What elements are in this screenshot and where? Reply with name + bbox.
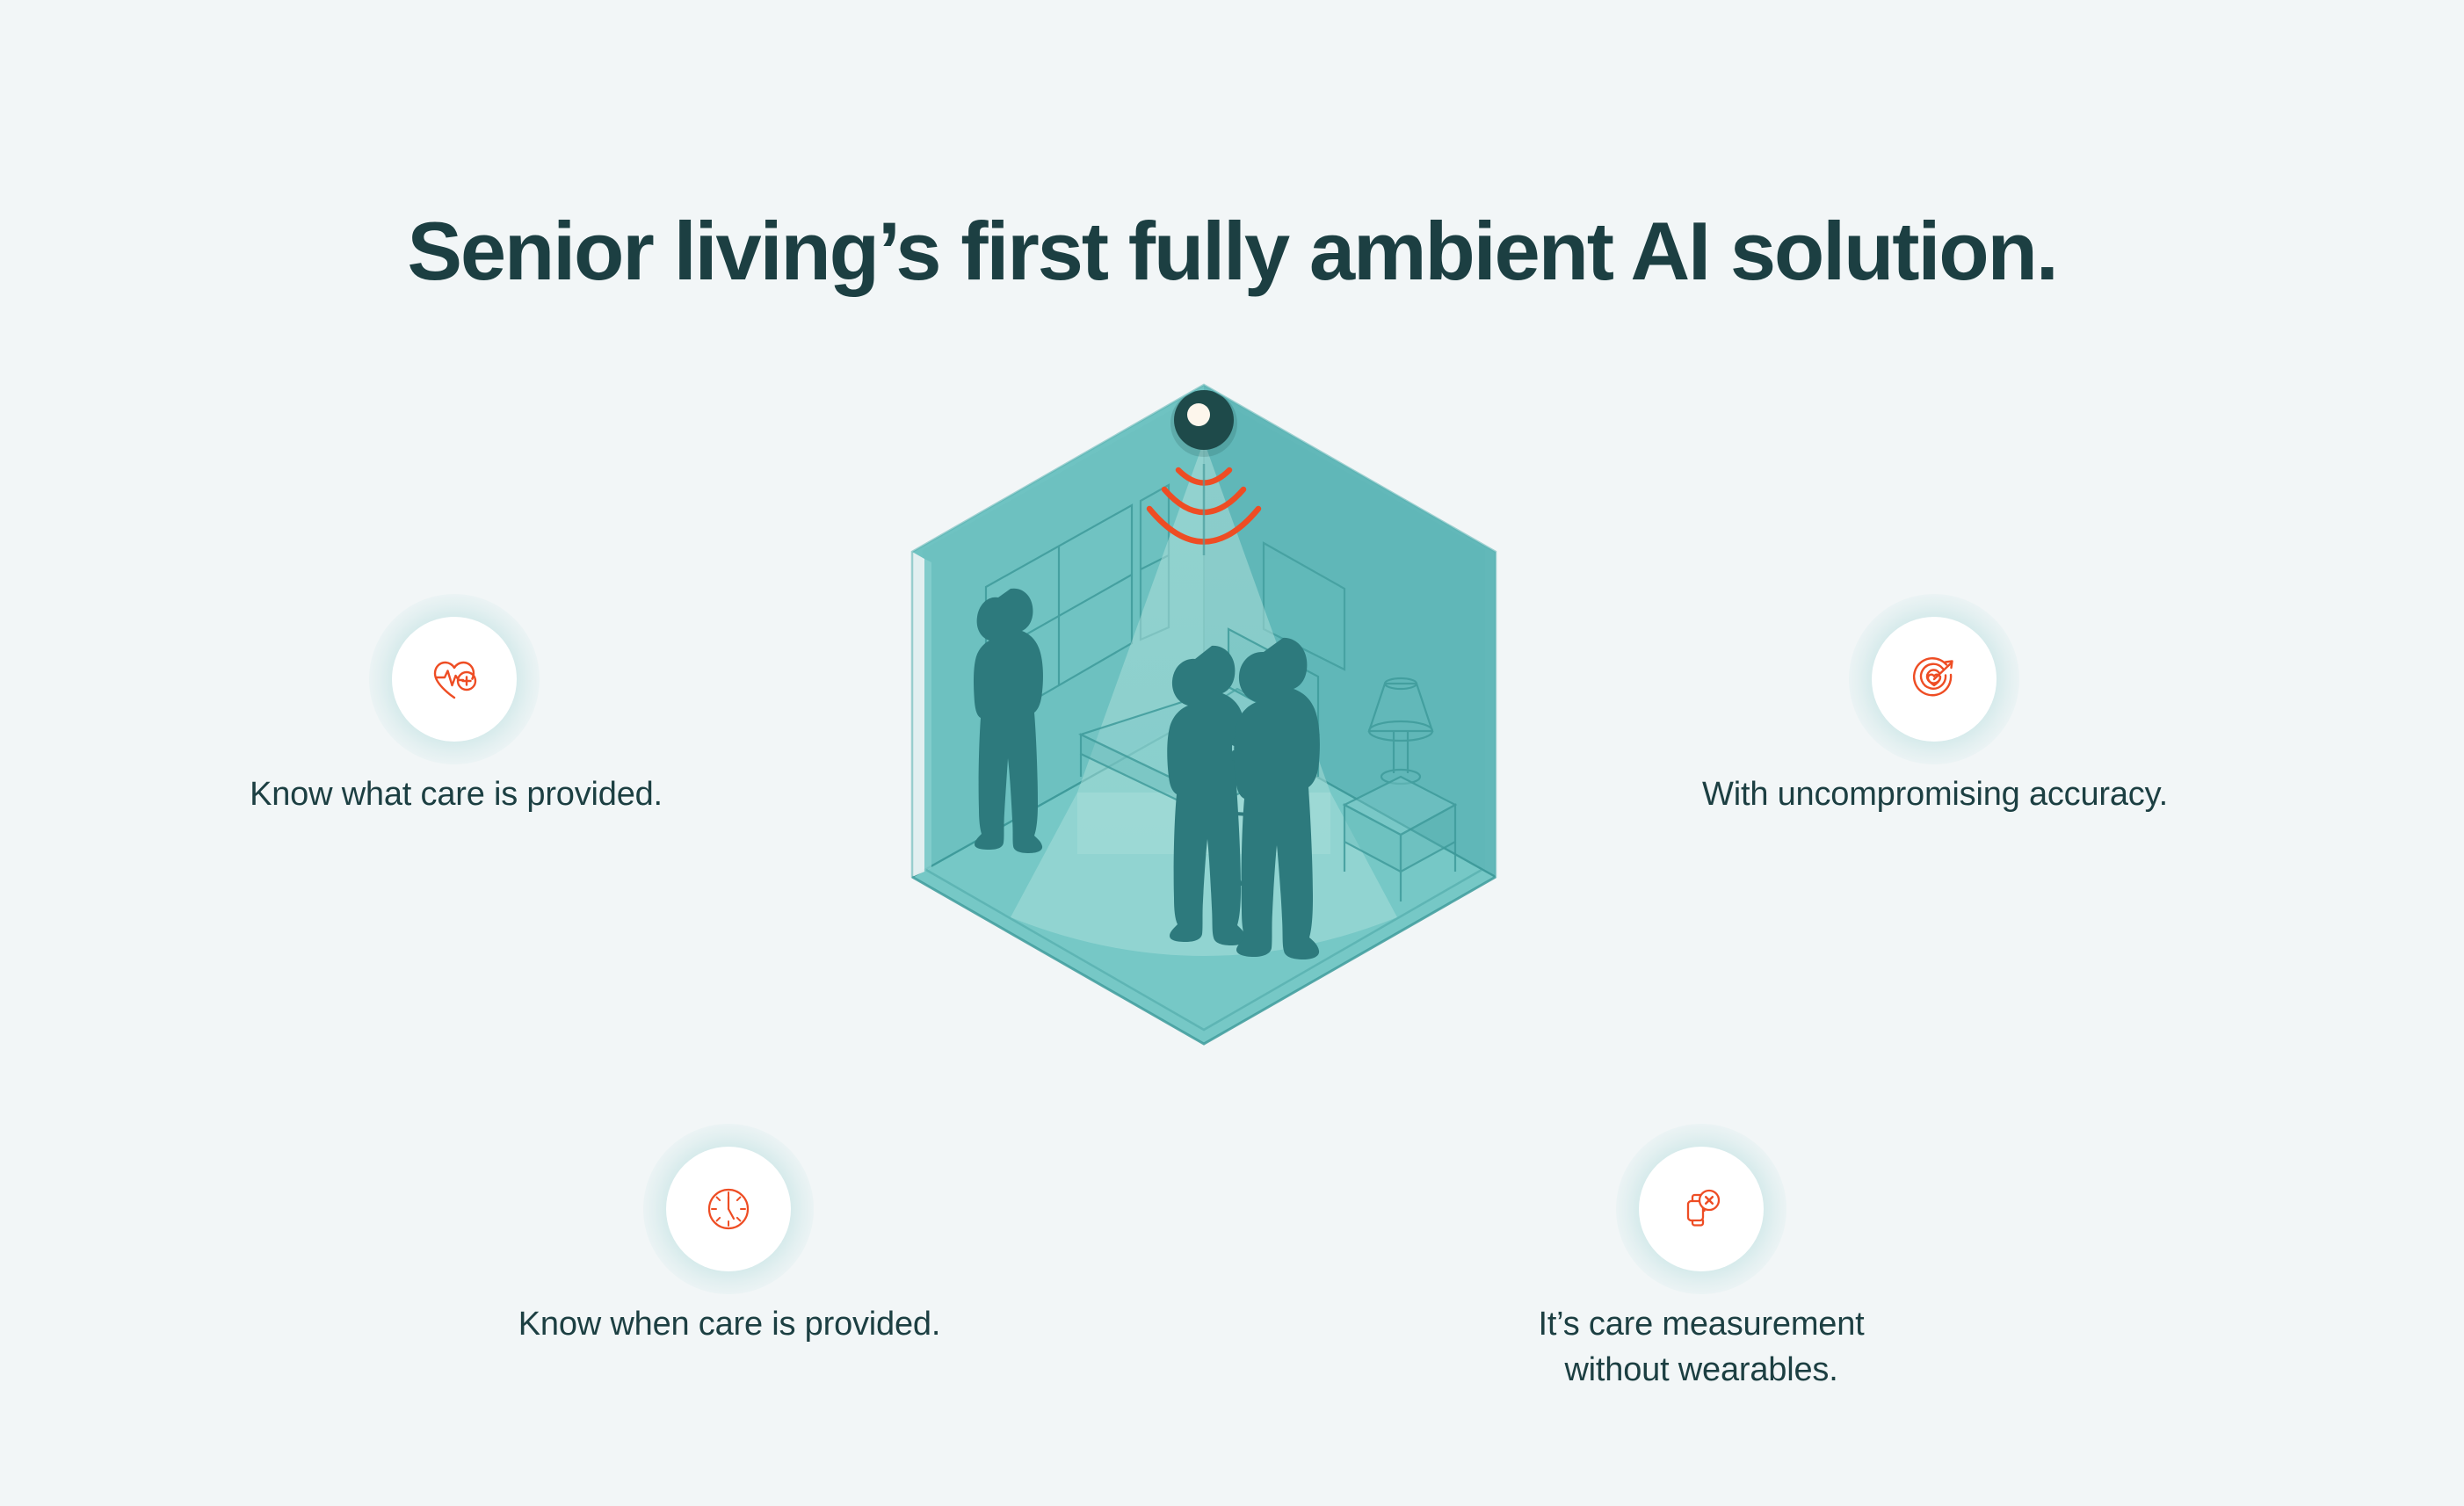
ambient-sensor-lens	[1187, 403, 1210, 426]
slide-canvas: Senior living’s first fully ambient AI s…	[0, 0, 2464, 1506]
icon-badge[interactable]	[1639, 1147, 1764, 1271]
clock-icon	[704, 1184, 753, 1234]
feature-label: With uncompromising accuracy.	[1641, 771, 2229, 817]
feature-icon-wrap	[666, 1147, 791, 1271]
page-title: Senior living’s first fully ambient AI s…	[0, 206, 2464, 296]
icon-badge[interactable]	[1872, 617, 1997, 742]
feature-icon-wrap	[392, 617, 517, 742]
feature-icon-wrap	[1639, 1147, 1764, 1271]
hex-edge-left	[912, 552, 924, 877]
feature-care-provided[interactable]: Know what care is provided.	[392, 617, 517, 742]
feature-when-care[interactable]: Know when care is provided.	[666, 1147, 791, 1271]
feature-label: Know when care is provided.	[476, 1301, 982, 1347]
hex-edge-left-inner	[924, 559, 931, 872]
hexagon-room-scene	[912, 385, 1496, 1044]
feature-accuracy[interactable]: With uncompromising accuracy.	[1872, 617, 1997, 742]
feature-label: Know what care is provided.	[206, 771, 707, 817]
feature-no-wearables[interactable]: It’s care measurement without wearables.	[1639, 1147, 1764, 1271]
feature-label: It’s care measurement without wearables.	[1453, 1301, 1950, 1394]
feature-icon-wrap	[1872, 617, 1997, 742]
icon-badge[interactable]	[392, 617, 517, 742]
heart-pulse-plus-icon	[427, 652, 482, 706]
icon-badge[interactable]	[666, 1147, 791, 1271]
smartwatch-x-icon	[1676, 1184, 1727, 1234]
target-arrow-heart-icon	[1907, 652, 1961, 706]
ambient-room-illustration	[905, 380, 1503, 1047]
